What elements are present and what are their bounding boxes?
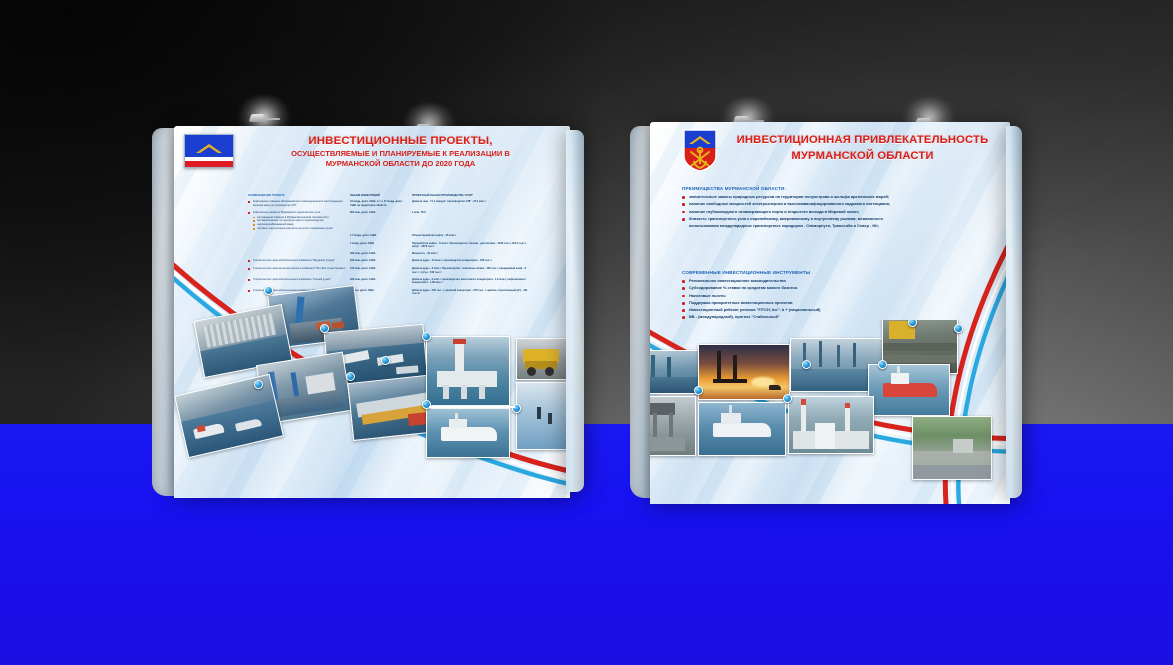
right-title-line1: ИНВЕСТИЦИОННАЯ ПРИВЛЕКАТЕЛЬНОСТЬ bbox=[727, 134, 998, 147]
col-header-project: НАИМЕНОВАНИЕ ПРОЕКТА bbox=[248, 194, 350, 198]
photo-coastal-town bbox=[912, 416, 992, 480]
left-stand-right-wing bbox=[566, 130, 584, 492]
table-row: Комплексное освоение Штокмановского газо… bbox=[248, 200, 538, 208]
cell-output: Мощность - 20 млн.т bbox=[412, 252, 530, 256]
photo-icebreaker bbox=[868, 364, 950, 416]
list-item: Налоговые льготы bbox=[682, 293, 994, 299]
cell-output: Объем перевалки нефти - 35 млн.т bbox=[412, 234, 530, 238]
collage-node bbox=[878, 360, 887, 369]
col-header-investment: ОБЪЕМ ИНВЕСТИЦИЙ bbox=[350, 194, 412, 198]
col-header-output: ПРОЕКТНЫЙ ОБЪЕМ ПРОИЗВОДСТВА УСЛУГ bbox=[412, 194, 530, 198]
instruments-section: СОВРЕМЕННЫЕ ИНВЕСТИЦИОННЫЕ ИНСТРУМЕНТЫ Р… bbox=[682, 270, 994, 322]
murmansk-oblast-flag-icon bbox=[184, 134, 234, 168]
instruments-list: Региональное инвестиционное законодатель… bbox=[682, 278, 994, 320]
photo-mine-headframe bbox=[650, 396, 696, 456]
collage-node bbox=[264, 286, 273, 295]
right-stand-title: ИНВЕСТИЦИОННАЯ ПРИВЛЕКАТЕЛЬНОСТЬ МУРМАНС… bbox=[727, 128, 998, 162]
left-stand-title: ИНВЕСТИЦИОННЫЕ ПРОЕКТЫ, ОСУЩЕСТВЛЯЕМЫЕ И… bbox=[241, 134, 560, 169]
advantages-heading: ПРЕИМУЩЕСТВА МУРМАНСКОЙ ОБЛАСТИ: bbox=[682, 186, 994, 191]
cell-project: Строительство горно-обогатительного комб… bbox=[248, 259, 350, 263]
list-item: Поддержка приоритетных инвестиционных пр… bbox=[682, 300, 994, 306]
table-header-row: НАИМЕНОВАНИЕ ПРОЕКТА ОБЪЕМ ИНВЕСТИЦИЙ ПР… bbox=[248, 194, 538, 198]
list-item: Инвестиционный рейтинг региона "FITCH, I… bbox=[682, 307, 994, 313]
list-item: Субсидирование % ставки по кредитам мало… bbox=[682, 285, 994, 291]
murmansk-coat-of-arms-icon bbox=[680, 128, 720, 172]
photo-port-tugs bbox=[174, 374, 284, 458]
table-row: Строительство горно-металлургического ко… bbox=[248, 267, 538, 274]
collage-node bbox=[320, 324, 329, 333]
left-stand-photo-collage bbox=[174, 276, 570, 498]
left-title-line3: МУРМАНСКОЙ ОБЛАСТИ ДО 2020 ГОДА bbox=[241, 160, 560, 169]
photo-oil-platform bbox=[426, 336, 510, 406]
right-stand-side-wing bbox=[630, 126, 652, 498]
cell-investment: 640 млн. долл. США bbox=[350, 259, 412, 263]
cell-project: Строительство горно-металлургического ко… bbox=[248, 267, 350, 274]
cell-output: Переработка нефти - 6 млн.т. Производств… bbox=[412, 242, 530, 249]
table-row: 1,7 млрд. долл. СШАОбъем перевалки нефти… bbox=[248, 234, 538, 238]
cell-investment: 1 млрд. долл. США bbox=[350, 242, 412, 249]
left-title-line2: ОСУЩЕСТВЛЯЕМЫЕ И ПЛАНИРУЕМЫЕ К РЕАЛИЗАЦИ… bbox=[241, 150, 560, 159]
photo-mining-truck bbox=[516, 338, 568, 380]
project-sub-bullet: портовые перегрузочные комплексы для угл… bbox=[248, 227, 346, 230]
list-item: Региональное инвестиционное законодатель… bbox=[682, 278, 994, 284]
photo-power-plant bbox=[788, 396, 874, 454]
cell-project: Комплексное развитие Мурманского транспо… bbox=[248, 211, 350, 231]
cell-project bbox=[248, 252, 350, 256]
cell-project bbox=[248, 234, 350, 238]
instruments-heading: СОВРЕМЕННЫЕ ИНВЕСТИЦИОННЫЕ ИНСТРУМЕНТЫ bbox=[682, 270, 994, 275]
cell-output: Добыча руды - 3 млн.т. Производство: тит… bbox=[412, 267, 530, 274]
left-title-line1: ИНВЕСТИЦИОННЫЕ ПРОЕКТЫ, bbox=[241, 135, 560, 148]
table-row: Строительство горно-обогатительного комб… bbox=[248, 259, 538, 263]
project-bullet: Строительство горно-металлургического ко… bbox=[248, 267, 346, 271]
list-item: наличие свободных мощностей электроэнерг… bbox=[682, 201, 994, 207]
cell-project bbox=[248, 242, 350, 249]
right-stand-photo-collage bbox=[650, 320, 1010, 504]
photo-oil-rig-sunset bbox=[698, 344, 790, 400]
right-stand-main-panel: ИНВЕСТИЦИОННАЯ ПРИВЛЕКАТЕЛЬНОСТЬ МУРМАНС… bbox=[650, 122, 1010, 504]
right-title-line2: МУРМАНСКОЙ ОБЛАСТИ bbox=[727, 150, 998, 163]
collage-node bbox=[381, 356, 390, 365]
cell-investment: 415 млн. долл. США bbox=[350, 267, 412, 274]
collage-node bbox=[422, 332, 431, 341]
left-stand-main-panel: ИНВЕСТИЦИОННЫЕ ПРОЕКТЫ, ОСУЩЕСТВЛЯЕМЫЕ И… bbox=[174, 126, 570, 498]
left-stand-side-wing bbox=[152, 128, 176, 496]
left-stand: ИНВЕСТИЦИОННЫЕ ПРОЕКТЫ, ОСУЩЕСТВЛЯЕМЫЕ И… bbox=[0, 0, 600, 560]
photo-port-cranes-2 bbox=[650, 350, 700, 394]
advantages-list: значительные запасы природных ресурсов н… bbox=[682, 194, 994, 229]
photo-divers bbox=[516, 382, 568, 450]
right-stand-header: ИНВЕСТИЦИОННАЯ ПРИВЛЕКАТЕЛЬНОСТЬ МУРМАНС… bbox=[680, 128, 998, 172]
photo-research-vessel bbox=[426, 408, 510, 458]
photo-fishing-trawler bbox=[698, 402, 786, 456]
cell-investment: 530 млн. долл. США bbox=[350, 252, 412, 256]
list-item: наличие глубоководного незамерзающего по… bbox=[682, 209, 994, 215]
collage-node bbox=[346, 372, 355, 381]
left-stand-header: ИНВЕСТИЦИОННЫЕ ПРОЕКТЫ, ОСУЩЕСТВЛЯЕМЫЕ И… bbox=[184, 134, 560, 169]
project-bullet: Строительство горно-обогатительного комб… bbox=[248, 259, 346, 263]
cell-investment: 44 млрд. долл. США, в т.ч. 17 млрд. долл… bbox=[350, 200, 412, 208]
project-bullet: Комплексное развитие Мурманского транспо… bbox=[248, 211, 346, 215]
collage-node bbox=[694, 386, 703, 395]
list-item: близость транспортного узла к европейско… bbox=[682, 216, 994, 222]
list-item: значительные запасы природных ресурсов н… bbox=[682, 194, 994, 200]
advantages-section: ПРЕИМУЩЕСТВА МУРМАНСКОЙ ОБЛАСТИ: значите… bbox=[682, 186, 994, 229]
collage-node bbox=[954, 324, 963, 333]
table-row: 1 млрд. долл. СШАПереработка нефти - 6 м… bbox=[248, 242, 538, 249]
cell-output: Добыча руды - 12 млн.т, производство кон… bbox=[412, 259, 530, 263]
collage-node bbox=[254, 380, 263, 389]
cell-output: 1 млн. TEU bbox=[412, 211, 530, 231]
right-stand: ИНВЕСТИЦИОННАЯ ПРИВЛЕКАТЕЛЬНОСТЬ МУРМАНС… bbox=[600, 0, 1173, 560]
project-bullet: Комплексное освоение Штокмановского газо… bbox=[248, 200, 346, 207]
cell-project: Комплексное освоение Штокмановского газо… bbox=[248, 200, 350, 208]
collage-connector bbox=[429, 406, 515, 408]
table-row: Комплексное развитие Мурманского транспо… bbox=[248, 211, 538, 231]
exhibition-scene: ИНВЕСТИЦИОННЫЕ ПРОЕКТЫ, ОСУЩЕСТВЛЯЕМЫЕ И… bbox=[0, 0, 1173, 665]
collage-node bbox=[802, 360, 811, 369]
list-item-continuation: использования международных транспортных… bbox=[682, 223, 994, 229]
collage-node bbox=[783, 394, 792, 403]
cell-output: Добыча газа - 71,1 млрд.м³, производство… bbox=[412, 200, 530, 208]
right-stand-right-wing bbox=[1006, 126, 1022, 498]
table-row: 530 млн. долл. СШАМощность - 20 млн.т bbox=[248, 252, 538, 256]
cell-investment: 800 млн. долл. США bbox=[350, 211, 412, 231]
cell-investment: 1,7 млрд. долл. США bbox=[350, 234, 412, 238]
collage-node bbox=[422, 400, 431, 409]
